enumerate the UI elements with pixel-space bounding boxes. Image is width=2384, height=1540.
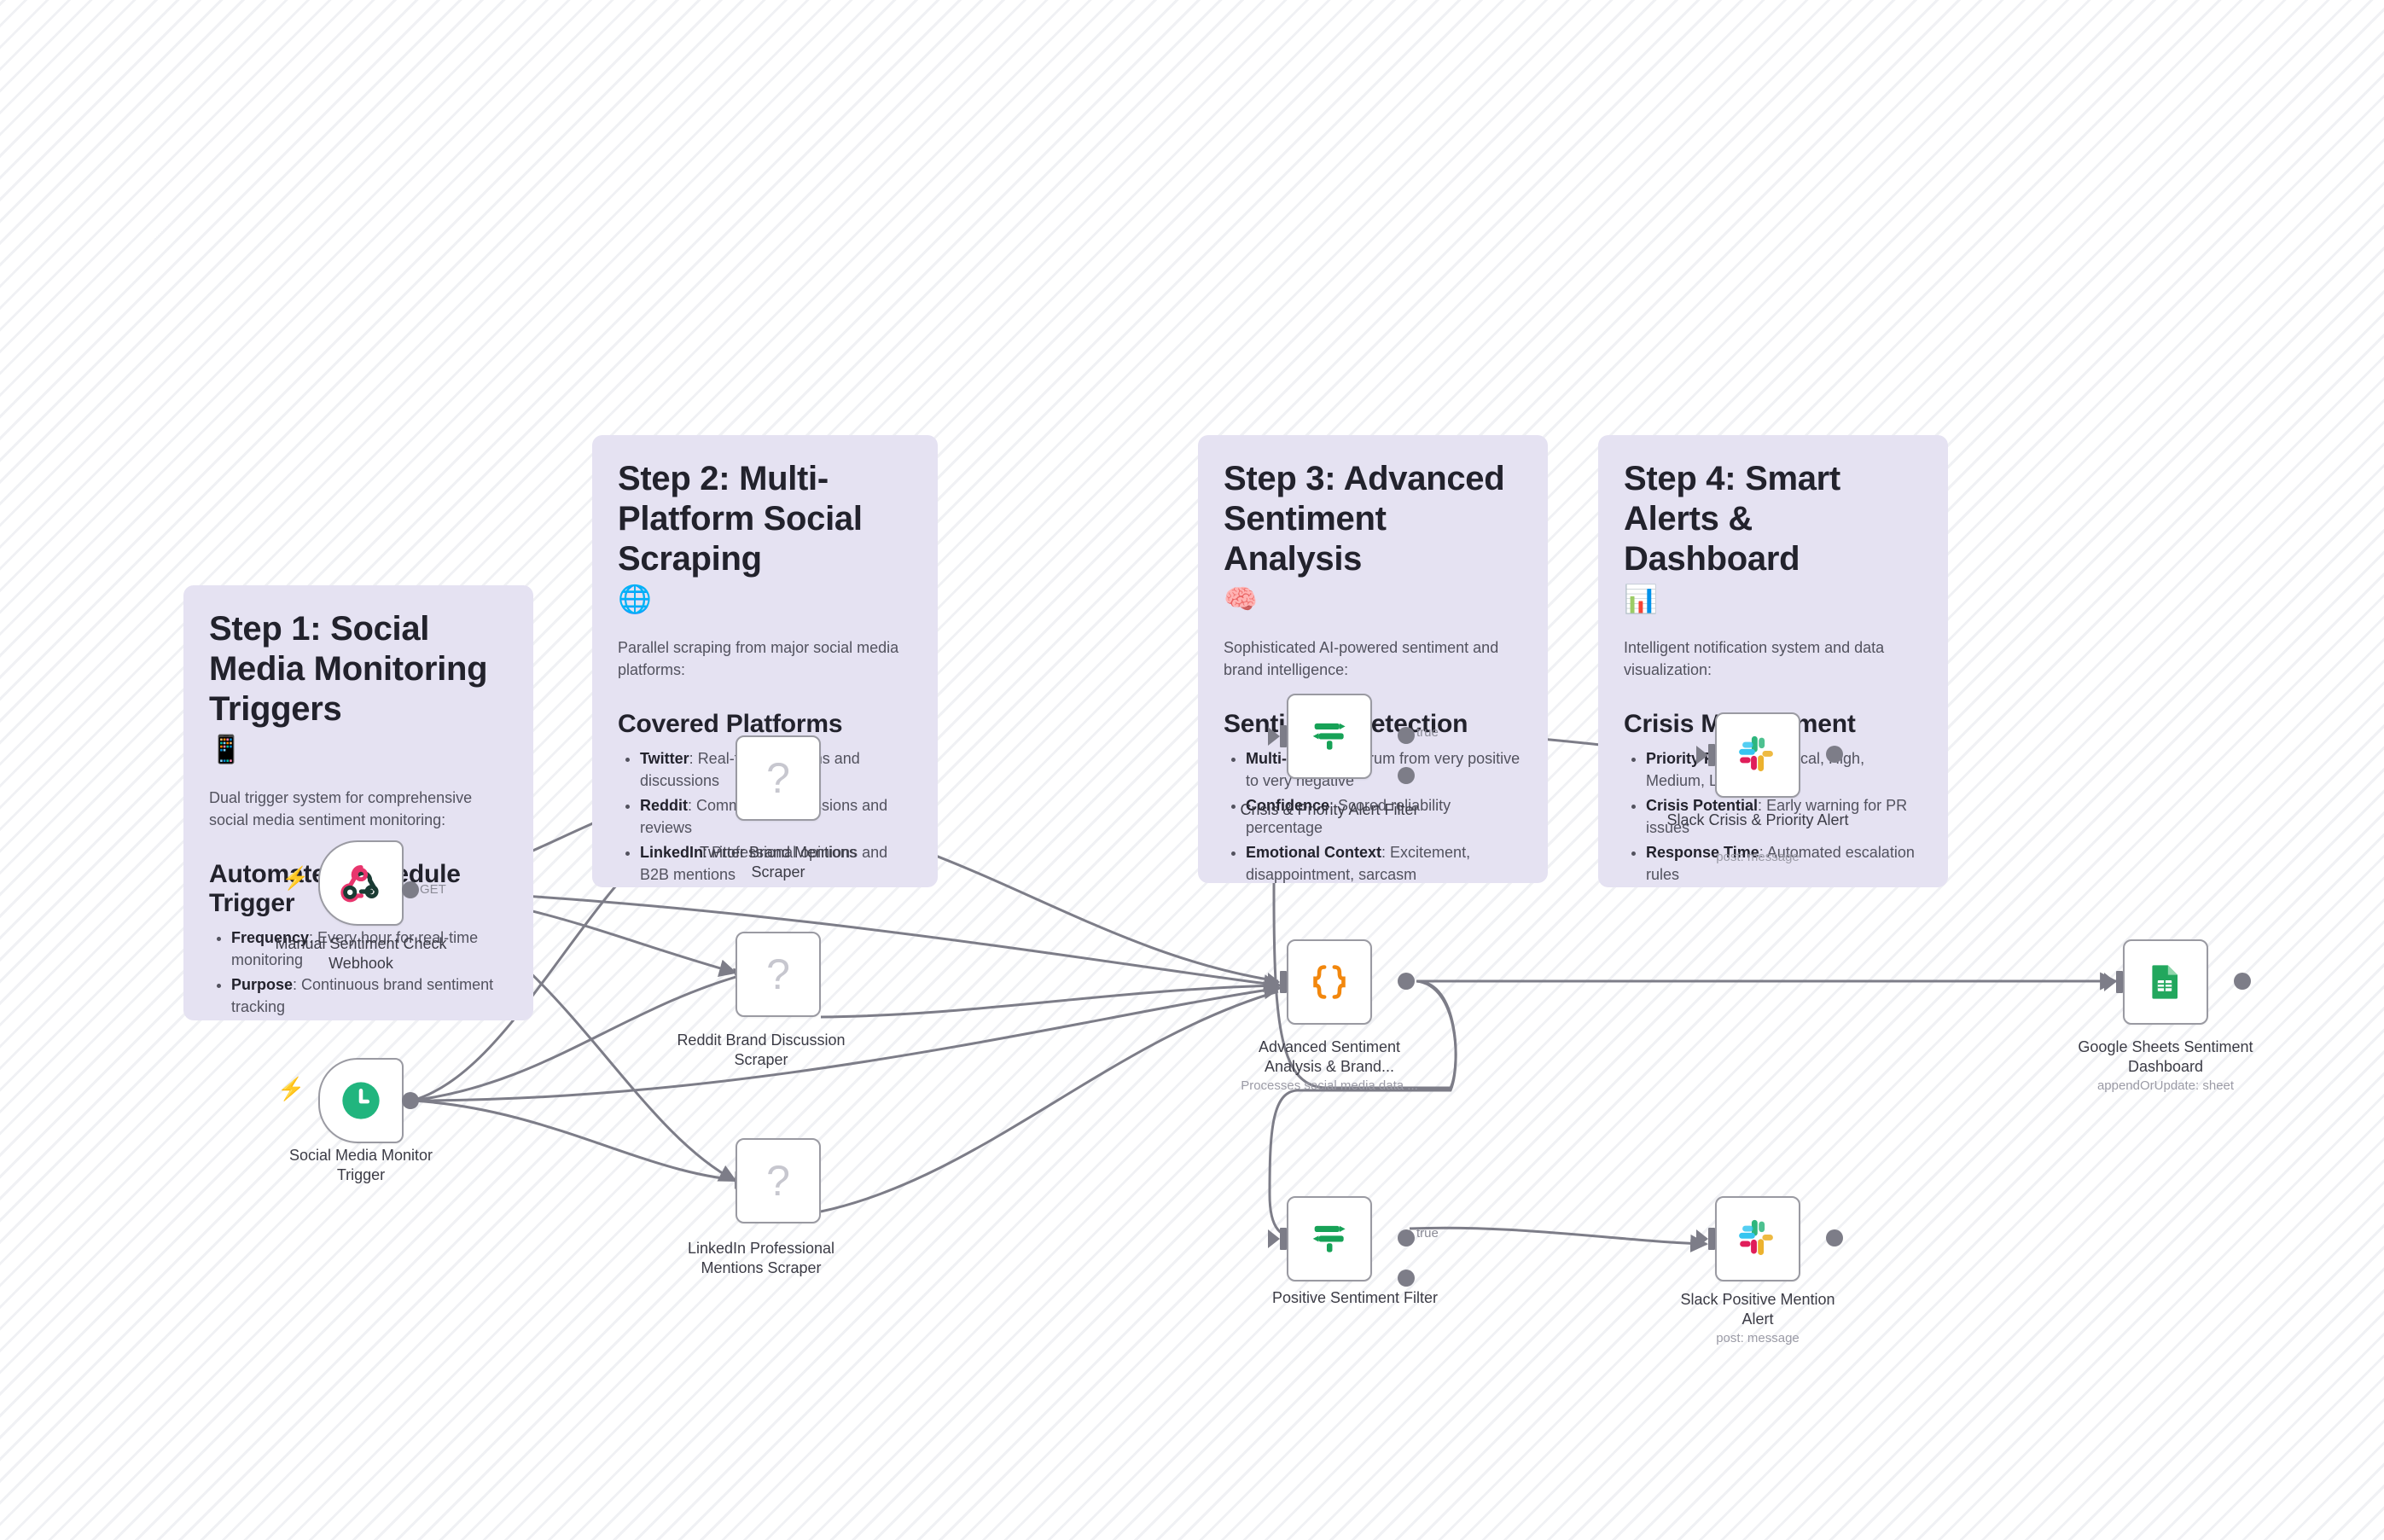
output-port-false[interactable] <box>1398 767 1415 784</box>
sticky-title: Step 3: Advanced Sentiment Analysis <box>1224 459 1522 580</box>
node-slack-crisis-priority-alert[interactable] <box>1715 712 1800 798</box>
input-port-bar[interactable] <box>1280 1228 1287 1250</box>
webhook-icon <box>336 858 386 908</box>
slack-icon <box>1733 1214 1782 1264</box>
node-reddit-brand-discussion-scraper[interactable]: ? <box>736 932 821 1017</box>
node-label-twitter-brand-mentions-scraper: Twitter Brand Mentions Scraper <box>684 843 872 881</box>
switch-icon <box>1305 1214 1354 1264</box>
workflow-canvas[interactable]: Step 1: Social Media Monitoring Triggers… <box>0 0 2384 1540</box>
slack-icon <box>1733 730 1782 780</box>
input-port[interactable] <box>1696 746 1708 764</box>
sticky-title: Step 4: Smart Alerts & Dashboard <box>1624 459 1922 580</box>
input-port[interactable] <box>1268 1229 1280 1248</box>
list-item: Purpose: Continuous brand sentiment trac… <box>231 973 508 1018</box>
webhook-method-label: GET <box>420 882 446 897</box>
node-google-sheets-sentiment-dashboard[interactable] <box>2123 939 2208 1025</box>
sticky-title: Step 1: Social Media Monitoring Triggers <box>209 609 508 730</box>
globe-icon: 🌐 <box>618 585 912 613</box>
sticky-intro: Sophisticated AI-powered sentiment and b… <box>1224 636 1522 681</box>
brain-icon: 🧠 <box>1224 585 1522 613</box>
node-sublabel-slack-positive-mention-alert: post: message <box>1664 1331 1852 1346</box>
node-advanced-sentiment-analysis[interactable] <box>1287 939 1372 1025</box>
node-twitter-brand-mentions-scraper[interactable]: ? <box>736 735 821 821</box>
input-port[interactable] <box>2104 973 2116 991</box>
output-port[interactable] <box>1826 746 1843 763</box>
mobile-phone-icon: 📱 <box>209 735 508 763</box>
node-manual-sentiment-check-webhook[interactable] <box>318 840 404 926</box>
output-port[interactable] <box>402 1092 419 1109</box>
output-port[interactable] <box>1826 1229 1843 1247</box>
node-sublabel-slack-crisis-priority-alert: post: message <box>1664 850 1852 865</box>
unknown-node-icon: ? <box>753 950 803 999</box>
input-port-bar[interactable] <box>1708 1228 1715 1250</box>
sticky-intro: Dual trigger system for comprehensive so… <box>209 787 508 831</box>
unknown-node-icon: ? <box>753 1156 803 1206</box>
node-positive-sentiment-filter[interactable] <box>1287 1196 1372 1281</box>
node-label-advanced-sentiment-analysis: Advanced Sentiment Analysis & Brand... <box>1236 1037 1423 1076</box>
switch-icon <box>1305 712 1354 761</box>
node-social-media-monitor-trigger[interactable] <box>318 1058 404 1143</box>
node-label-positive-sentiment-filter: Positive Sentiment Filter <box>1261 1288 1449 1308</box>
input-port[interactable] <box>1268 973 1280 991</box>
sticky-title: Step 2: Multi-Platform Social Scraping <box>618 459 912 580</box>
input-port[interactable] <box>1268 727 1280 746</box>
node-label-google-sheets-sentiment-dashboard: Google Sheets Sentiment Dashboard <box>2072 1037 2259 1076</box>
input-port-bar[interactable] <box>1280 725 1287 747</box>
sticky-intro: Parallel scraping from major social medi… <box>618 636 912 681</box>
output-port[interactable] <box>1398 973 1415 990</box>
edge-label-true: true <box>1416 1226 1439 1241</box>
output-port[interactable] <box>402 881 419 898</box>
node-label-linkedin-professional-mentions-scraper: LinkedIn Professional Mentions Scraper <box>667 1239 855 1277</box>
input-port[interactable] <box>1696 1229 1708 1248</box>
node-sublabel-advanced-sentiment-analysis: Processes social media data ... <box>1236 1078 1423 1094</box>
input-port-bar[interactable] <box>1708 744 1715 766</box>
output-port[interactable] <box>2234 973 2251 990</box>
google-sheets-icon <box>2141 957 2190 1007</box>
node-label-reddit-brand-discussion-scraper: Reddit Brand Discussion Scraper <box>667 1031 855 1069</box>
bar-chart-icon: 📊 <box>1624 585 1922 613</box>
sticky-intro: Intelligent notification system and data… <box>1624 636 1922 681</box>
node-label-slack-positive-mention-alert: Slack Positive Mention Alert <box>1664 1290 1852 1328</box>
node-slack-positive-mention-alert[interactable] <box>1715 1196 1800 1281</box>
input-port-bar[interactable] <box>2116 971 2123 993</box>
edge-label-true: true <box>1416 725 1439 740</box>
input-port-bar[interactable] <box>1280 971 1287 993</box>
node-label-manual-sentiment-check-webhook: Manual Sentiment Check Webhook <box>267 934 455 973</box>
unknown-node-icon: ? <box>753 753 803 803</box>
node-sublabel-google-sheets-sentiment-dashboard: appendOrUpdate: sheet <box>2072 1078 2259 1094</box>
output-port-true[interactable] <box>1398 727 1415 744</box>
node-label-social-media-monitor-trigger: Social Media Monitor Trigger <box>267 1146 455 1184</box>
code-braces-icon <box>1305 957 1354 1007</box>
list-item: Emotional Context: Excitement, disappoin… <box>1246 841 1522 883</box>
sticky-section-heading: Covered Platforms <box>618 710 912 739</box>
output-port-false[interactable] <box>1398 1270 1415 1287</box>
trigger-bolt-icon: ⚡ <box>282 867 309 889</box>
output-port-true[interactable] <box>1398 1229 1415 1247</box>
clock-icon <box>336 1076 386 1125</box>
node-label-slack-crisis-priority-alert: Slack Crisis & Priority Alert <box>1664 811 1852 830</box>
node-label-crisis-priority-alert-filter: Crisis & Priority Alert Filter <box>1236 800 1423 820</box>
node-linkedin-professional-mentions-scraper[interactable]: ? <box>736 1138 821 1223</box>
trigger-bolt-icon: ⚡ <box>277 1078 305 1100</box>
node-crisis-priority-alert-filter[interactable] <box>1287 694 1372 779</box>
